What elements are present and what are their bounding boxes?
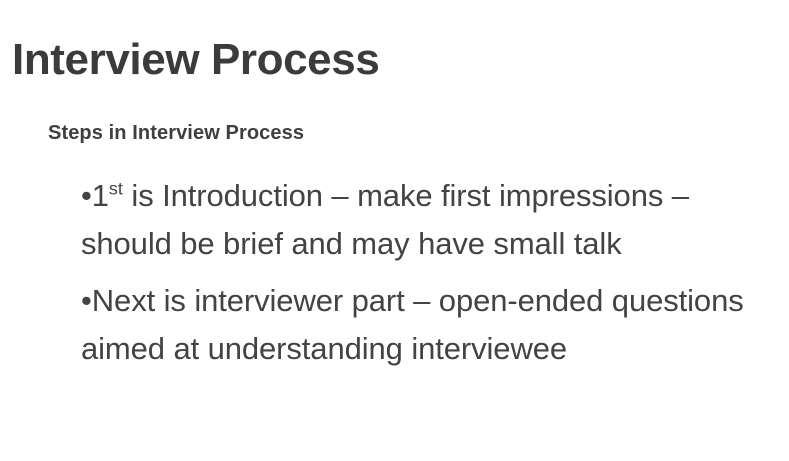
bullet-point-icon: • [81,283,92,318]
slide-canvas: Interview Process Steps in Interview Pro… [0,0,789,461]
slide-subtitle: Steps in Interview Process [48,121,304,145]
list-item: •Next is interviewer part – open-ended q… [81,277,771,372]
ordinal-suffix: st [109,179,123,199]
bullet-text: is Introduction – make first impressions… [81,178,689,261]
bullet-point-icon: • [81,178,92,213]
page-title: Interview Process [12,35,379,84]
list-item: •1st is Introduction – make first impres… [81,172,771,267]
bullet-lead-number: 1 [92,178,109,213]
bullet-text: Next is interviewer part – open-ended qu… [81,283,744,366]
bullet-list: •1st is Introduction – make first impres… [81,172,771,372]
